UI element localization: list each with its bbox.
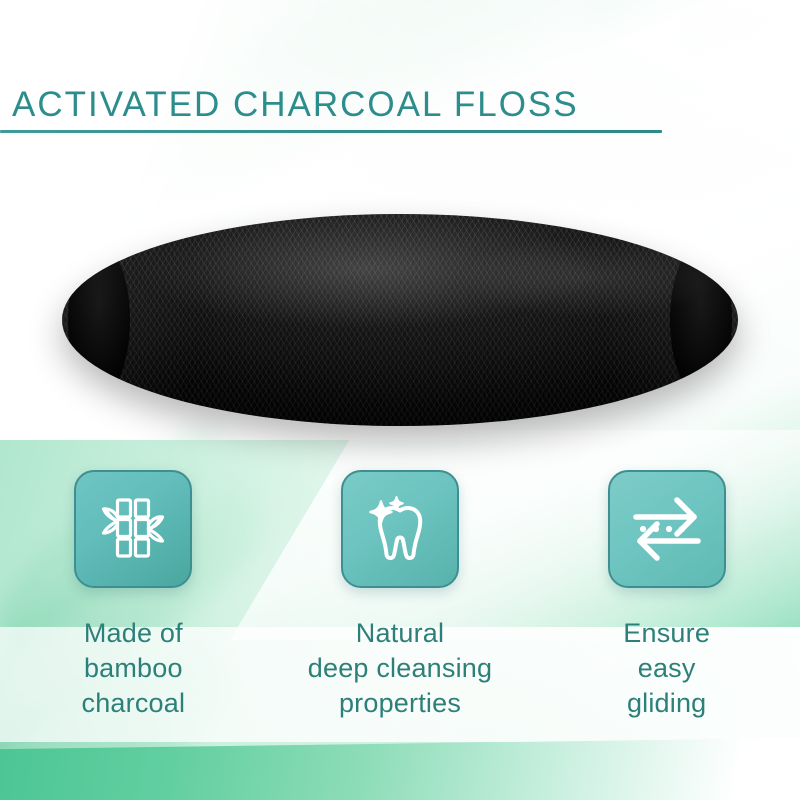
product-image [62, 214, 738, 426]
page-title: ACTIVATED CHARCOAL FLOSS [0, 86, 800, 124]
feature-caption: Natural deep cleansing properties [308, 616, 492, 721]
sparkling-tooth-icon [341, 470, 459, 588]
bamboo-icon [74, 470, 192, 588]
feature-item-bamboo: Made of bamboo charcoal [0, 470, 267, 721]
title-underline-divider [0, 130, 662, 133]
title-area: ACTIVATED CHARCOAL FLOSS [0, 86, 800, 124]
feature-caption: Made of bamboo charcoal [82, 616, 186, 721]
feature-item-cleansing: Natural deep cleansing properties [267, 470, 534, 721]
floss-spool-body [62, 214, 738, 426]
feature-caption: Ensure easy gliding [623, 616, 710, 721]
feature-item-gliding: Ensure easy gliding [533, 470, 800, 721]
product-infographic: ACTIVATED CHARCOAL FLOSS [0, 0, 800, 800]
feature-row: Made of bamboo charcoal Natural deep cle… [0, 470, 800, 721]
glide-arrows-icon [608, 470, 726, 588]
spool-highlight-sheen [62, 214, 738, 426]
